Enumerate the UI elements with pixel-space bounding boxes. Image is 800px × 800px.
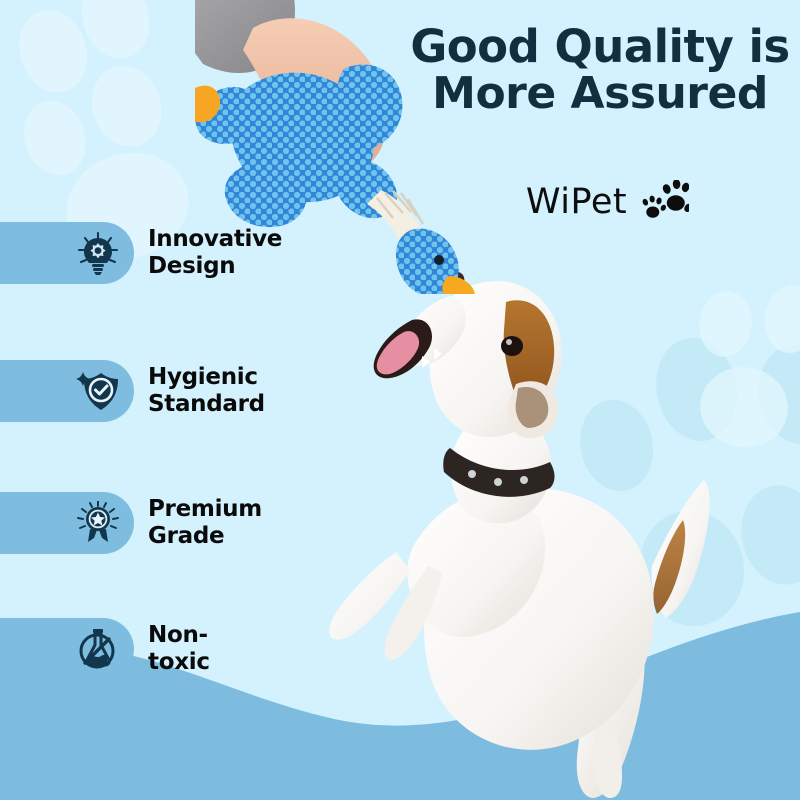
feature-label: Non- toxic bbox=[148, 622, 210, 676]
brand-name: WiPet bbox=[526, 185, 627, 220]
feature-pill bbox=[0, 360, 134, 422]
no-toxic-flask-icon bbox=[76, 627, 120, 671]
feature-label: Innovative Design bbox=[148, 226, 282, 280]
lightbulb-gear-icon bbox=[76, 231, 120, 275]
headline: Good Quality is More Assured bbox=[405, 24, 795, 117]
feature-label: Hygienic Standard bbox=[148, 364, 265, 418]
feature-pill bbox=[0, 618, 134, 680]
feature-item-non-toxic[interactable]: Non- toxic bbox=[0, 618, 210, 680]
feature-pill bbox=[0, 492, 134, 554]
feature-item-premium-grade[interactable]: Premium Grade bbox=[0, 492, 262, 554]
paw-print-icon bbox=[641, 180, 689, 224]
shield-check-icon bbox=[76, 369, 120, 413]
feature-item-hygienic-standard[interactable]: Hygienic Standard bbox=[0, 360, 265, 422]
feature-item-innovative-design[interactable]: Innovative Design bbox=[0, 222, 282, 284]
feature-pill bbox=[0, 222, 134, 284]
feature-label: Premium Grade bbox=[148, 496, 262, 550]
product-poster: Good Quality is More Assured WiPet bbox=[0, 0, 800, 800]
award-rosette-icon bbox=[76, 501, 120, 545]
brand-lockup: WiPet bbox=[500, 180, 715, 224]
headline-line-2: More Assured bbox=[405, 71, 795, 117]
headline-line-1: Good Quality is bbox=[405, 24, 795, 71]
feature-list: Innovative Design Hygienic Standard bbox=[0, 0, 420, 800]
